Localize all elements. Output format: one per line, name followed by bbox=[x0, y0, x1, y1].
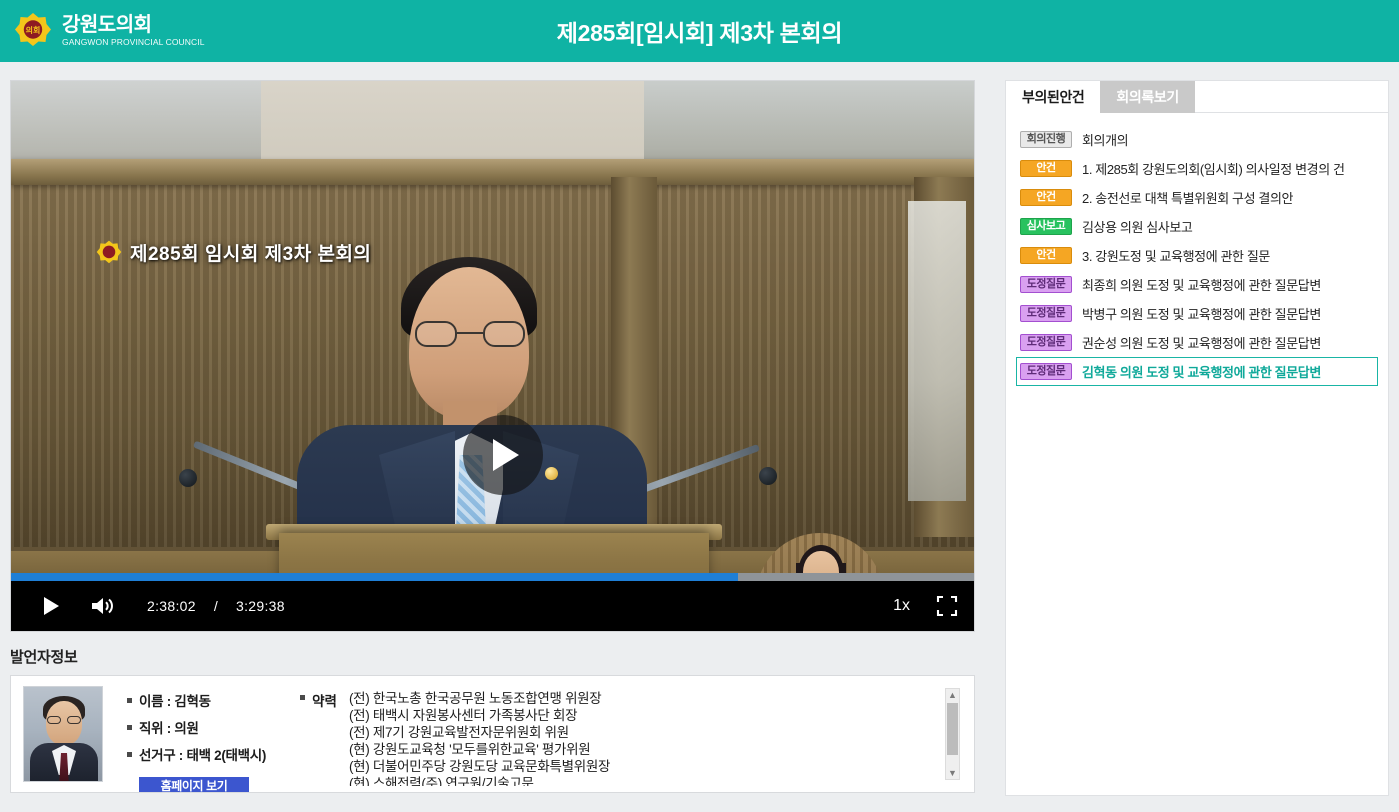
chevron-up-icon[interactable]: ▲ bbox=[948, 689, 957, 701]
bio-line: (전) 제7기 강원교육발전자문위원회 위원 bbox=[349, 724, 610, 741]
status-badge: 심사보고 bbox=[1020, 218, 1072, 235]
speaker-info-card: 이름 : 김혁동 직위 : 의원 선거구 : 태백 2(태백시) 홈페이지 보기… bbox=[10, 675, 975, 793]
play-overlay-button[interactable] bbox=[463, 415, 543, 495]
bullet-icon bbox=[127, 752, 132, 757]
speaker-info-heading: 발언자정보 bbox=[10, 646, 975, 667]
agenda-item-review-report[interactable]: 심사보고 김상용 의원 심사보고 bbox=[1016, 212, 1378, 241]
status-badge: 안건 bbox=[1020, 160, 1072, 177]
agenda-panel: 부의된안건 회의록보기 회의진행 회의개의 안건 1. 제285회 강원도의회(… bbox=[1005, 80, 1389, 796]
agenda-item-bill-2[interactable]: 안건 2. 송전선로 대책 특별위원회 구성 결의안 bbox=[1016, 183, 1378, 212]
bio-line: (현) 강원도교육청 '모두를위한교육' 평가위원 bbox=[349, 741, 610, 758]
panel-tabs: 부의된안건 회의록보기 bbox=[1006, 81, 1388, 113]
agenda-list: 회의진행 회의개의 안건 1. 제285회 강원도의회(임시회) 의사일정 변경… bbox=[1006, 113, 1388, 386]
speaker-photo bbox=[23, 686, 103, 782]
bio-scrollbar[interactable]: ▲ ▼ bbox=[945, 688, 960, 780]
page-title: 제285회[임시회] 제3차 본회의 bbox=[0, 0, 1399, 62]
agenda-item-label: 김상용 의원 심사보고 bbox=[1082, 217, 1192, 236]
play-icon bbox=[44, 597, 59, 615]
speaker-bio: 약력 (전) 한국노총 한국공무원 노동조합연맹 위원장 (전) 태백시 자원봉… bbox=[300, 690, 974, 792]
speaker-name-field: 이름 : 김혁동 bbox=[127, 690, 266, 710]
play-icon bbox=[493, 439, 519, 471]
speaker-name-value: 이름 : 김혁동 bbox=[139, 690, 211, 710]
agenda-item-label: 김혁동 의원 도정 및 교육행정에 관한 질문답변 bbox=[1082, 362, 1321, 381]
fullscreen-button[interactable] bbox=[936, 595, 958, 617]
page-body: 제285회 임시회 제3차 본회의 bbox=[0, 62, 1399, 812]
bio-list: (전) 한국노총 한국공무원 노동조합연맹 위원장 (전) 태백시 자원봉사센터… bbox=[349, 690, 610, 786]
status-badge: 도정질문 bbox=[1020, 334, 1072, 351]
play-button[interactable] bbox=[33, 588, 69, 624]
agenda-item-bill-3[interactable]: 안건 3. 강원도정 및 교육행정에 관한 질문 bbox=[1016, 241, 1378, 270]
scrollbar-thumb[interactable] bbox=[947, 703, 958, 755]
volume-icon bbox=[90, 595, 116, 617]
agenda-item-label: 권순성 의원 도정 및 교육행정에 관한 질문답변 bbox=[1082, 333, 1321, 352]
agenda-item-question-choi[interactable]: 도정질문 최종희 의원 도정 및 교육행정에 관한 질문답변 bbox=[1016, 270, 1378, 299]
chevron-down-icon[interactable]: ▼ bbox=[948, 767, 957, 779]
brand-name-ko: 강원도의회 bbox=[62, 14, 205, 36]
video-progress-bar[interactable] bbox=[11, 573, 974, 581]
agenda-item-label: 회의개의 bbox=[1082, 130, 1128, 149]
svg-text:의회: 의회 bbox=[26, 25, 41, 35]
status-badge: 안건 bbox=[1020, 189, 1072, 206]
agenda-item-label: 2. 송전선로 대책 특별위원회 구성 결의안 bbox=[1082, 188, 1293, 207]
status-badge: 회의진행 bbox=[1020, 131, 1072, 148]
bio-line: (현) 더불어민주당 강원도당 교육문화특별위원장 bbox=[349, 758, 610, 775]
status-badge: 도정질문 bbox=[1020, 276, 1072, 293]
agenda-item-label: 1. 제285회 강원도의회(임시회) 의사일정 변경의 건 bbox=[1082, 159, 1345, 178]
current-time: 2:38:02 bbox=[147, 598, 196, 614]
time-display: 2:38:02 / 3:29:38 bbox=[147, 598, 285, 614]
status-badge: 안건 bbox=[1020, 247, 1072, 264]
fullscreen-icon bbox=[936, 595, 958, 617]
site-header: 의회 강원도의회 GANGWON PROVINCIAL COUNCIL 제285… bbox=[0, 0, 1399, 62]
tab-submitted-bills[interactable]: 부의된안건 bbox=[1006, 81, 1100, 113]
tab-view-minutes[interactable]: 회의록보기 bbox=[1100, 81, 1194, 113]
total-duration: 3:29:38 bbox=[236, 598, 285, 614]
video-controls: 2:38:02 / 3:29:38 1x bbox=[11, 581, 974, 631]
video-progress-fill bbox=[11, 573, 738, 581]
agenda-item-label: 박병구 의원 도정 및 교육행정에 관한 질문답변 bbox=[1082, 304, 1321, 323]
bullet-icon bbox=[127, 725, 132, 730]
bio-line: (전) 태백시 자원봉사센터 가족봉사단 회장 bbox=[349, 707, 610, 724]
brand-logo[interactable]: 의회 강원도의회 GANGWON PROVINCIAL COUNCIL bbox=[0, 12, 200, 50]
agenda-item-meeting-open[interactable]: 회의진행 회의개의 bbox=[1016, 125, 1378, 154]
speaker-position-field: 직위 : 의원 bbox=[127, 717, 266, 737]
speaker-position-value: 직위 : 의원 bbox=[139, 717, 199, 737]
agenda-item-bill-1[interactable]: 안건 1. 제285회 강원도의회(임시회) 의사일정 변경의 건 bbox=[1016, 154, 1378, 183]
bio-label: 약력 bbox=[300, 690, 337, 792]
agenda-item-question-park[interactable]: 도정질문 박병구 의원 도정 및 교육행정에 관한 질문답변 bbox=[1016, 299, 1378, 328]
bio-line: (전) 한국노총 한국공무원 노동조합연맹 위원장 bbox=[349, 690, 610, 707]
speaker-district-value: 선거구 : 태백 2(태백시) bbox=[139, 744, 266, 764]
council-emblem-icon: 의회 bbox=[14, 12, 52, 50]
speaker-fields: 이름 : 김혁동 직위 : 의원 선거구 : 태백 2(태백시) 홈페이지 보기 bbox=[127, 690, 266, 792]
video-column: 제285회 임시회 제3차 본회의 bbox=[10, 80, 975, 793]
video-player[interactable]: 제285회 임시회 제3차 본회의 bbox=[10, 80, 975, 632]
bio-line: (현) 스해전력(주) 연구원/기술고문 bbox=[349, 775, 610, 786]
volume-button[interactable] bbox=[83, 588, 123, 624]
agenda-item-label: 최종희 의원 도정 및 교육행정에 관한 질문답변 bbox=[1082, 275, 1321, 294]
speaker-district-field: 선거구 : 태백 2(태백시) bbox=[127, 744, 266, 764]
playback-speed-button[interactable]: 1x bbox=[893, 597, 910, 615]
bio-label-text: 약력 bbox=[312, 690, 337, 710]
brand-name-en: GANGWON PROVINCIAL COUNCIL bbox=[62, 36, 205, 48]
status-badge: 도정질문 bbox=[1020, 305, 1072, 322]
status-badge: 도정질문 bbox=[1020, 363, 1072, 380]
agenda-item-question-kwon[interactable]: 도정질문 권순성 의원 도정 및 교육행정에 관한 질문답변 bbox=[1016, 328, 1378, 357]
bullet-icon bbox=[300, 695, 305, 700]
time-separator: / bbox=[214, 598, 218, 614]
bullet-icon bbox=[127, 698, 132, 703]
homepage-button[interactable]: 홈페이지 보기 bbox=[139, 777, 249, 793]
agenda-item-question-kim-selected[interactable]: 도정질문 김혁동 의원 도정 및 교육행정에 관한 질문답변 bbox=[1016, 357, 1378, 386]
agenda-item-label: 3. 강원도정 및 교육행정에 관한 질문 bbox=[1082, 246, 1270, 265]
